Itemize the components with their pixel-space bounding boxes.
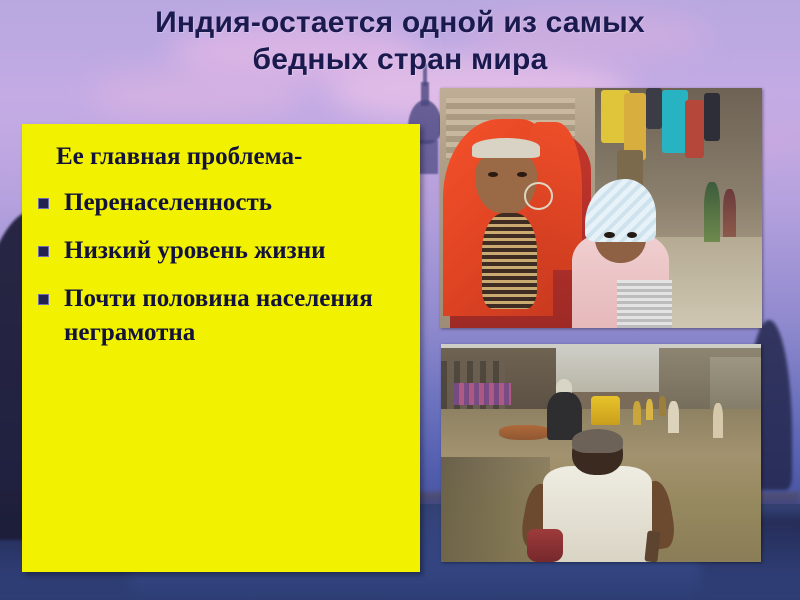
photo-pedestrian (668, 401, 679, 434)
presentation-slide: Индия-остается одной из самых бедных стр… (0, 0, 800, 600)
photo-hanging-cloth (646, 88, 662, 129)
photo-hanging-cloth (704, 93, 720, 141)
content-box-heading: Ее главная проблема- (22, 142, 420, 172)
photo-distant-figure (723, 189, 736, 237)
list-item-label: Почти половина населения неграмотна (64, 282, 412, 350)
photo-pedestrian (659, 396, 667, 416)
photo-hanging-cloth (685, 100, 704, 158)
list-item-label: Перенаселенность (64, 186, 412, 220)
photo-distant-figure (704, 182, 720, 242)
photo-pedestrian (633, 401, 641, 425)
photo-head-jewellery (472, 138, 540, 157)
photo-market-stall (454, 383, 512, 405)
bullet-square-icon (38, 246, 49, 257)
photo-woman-with-baby (440, 88, 762, 328)
bullet-list: Перенаселенность Низкий уровень жизни По… (22, 186, 420, 350)
list-item: Перенаселенность (36, 186, 412, 220)
photo-silver-bundle (617, 280, 672, 328)
photo-street-debris (499, 425, 550, 440)
list-item: Низкий уровень жизни (36, 234, 412, 268)
slide-title: Индия-остается одной из самых бедных стр… (60, 4, 740, 78)
photo-pedestrian (713, 403, 723, 438)
bullet-square-icon (38, 294, 49, 305)
bullet-square-icon (38, 198, 49, 209)
list-item-label: Низкий уровень жизни (64, 234, 412, 268)
photo-necklace (482, 213, 537, 309)
list-item: Почти половина населения неграмотна (36, 282, 412, 350)
photo-nose-ring (524, 182, 554, 210)
photo-baby-eye (604, 232, 614, 238)
photo-pedestrian (646, 399, 653, 421)
photo-street-rickshaw-puller (441, 344, 761, 562)
photo-yellow-taxi (591, 396, 620, 424)
photo-red-bag (527, 529, 562, 562)
photo-man-hair (572, 429, 623, 453)
content-box: Ее главная проблема- Перенаселенность Ни… (22, 124, 420, 572)
